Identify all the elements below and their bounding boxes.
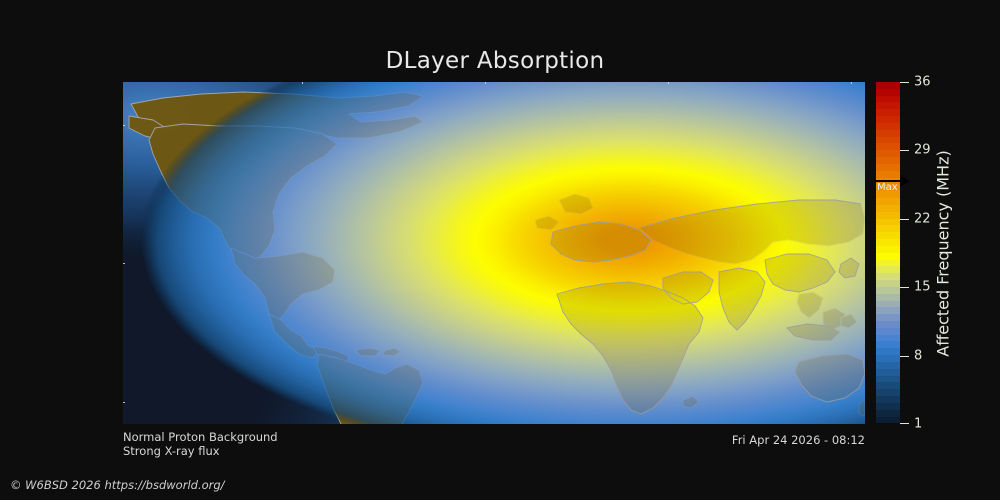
colorbar-segment — [876, 341, 900, 348]
colorbar-segment — [876, 287, 900, 294]
colorbar-segment — [876, 417, 900, 424]
colorbar-tick — [900, 356, 909, 357]
colorbar-segment — [876, 143, 900, 150]
colorbar-segment — [876, 82, 900, 89]
colorbar-title-text: Affected Frequency (MHz) — [934, 150, 953, 356]
colorbar-tick-label: 29 — [914, 143, 931, 158]
colorbar[interactable] — [876, 82, 900, 424]
colorbar-segment — [876, 403, 900, 410]
page-title: DLayer Absorption — [0, 48, 990, 74]
colorbar-segment — [876, 205, 900, 212]
colorbar-tick-label: 8 — [914, 348, 922, 363]
colorbar-segment — [876, 239, 900, 246]
colorbar-segment — [876, 157, 900, 164]
colorbar-segment — [876, 198, 900, 205]
colorbar-segment — [876, 376, 900, 383]
colorbar-tick — [900, 423, 909, 424]
colorbar-segment — [876, 102, 900, 109]
colorbar-segment — [876, 369, 900, 376]
colorbar-segment — [876, 219, 900, 226]
colorbar-tick — [900, 287, 909, 288]
colorbar-segment — [876, 321, 900, 328]
colorbar-segment — [876, 109, 900, 116]
colorbar-tick-label: 22 — [914, 211, 931, 226]
colorbar-segment — [876, 355, 900, 362]
colorbar-segment — [876, 362, 900, 369]
colorbar-segment — [876, 137, 900, 144]
copyright-footer: © W6BSD 2026 https://bsdworld.org/ — [10, 478, 225, 492]
colorbar-segment — [876, 301, 900, 308]
colorbar-tick — [900, 219, 909, 220]
colorbar-segment — [876, 382, 900, 389]
colorbar-segment — [876, 396, 900, 403]
colorbar-title: Affected Frequency (MHz) — [931, 82, 955, 424]
colorbar-segment — [876, 164, 900, 171]
plot-root: DLayer Absorption — [0, 0, 1000, 500]
colorbar-segment — [876, 89, 900, 96]
colorbar-segment — [876, 294, 900, 301]
colorbar-segment — [876, 266, 900, 273]
timestamp: Fri Apr 24 2026 - 08:12 — [460, 433, 865, 447]
colorbar-segment — [876, 314, 900, 321]
colorbar-segment — [876, 328, 900, 335]
colorbar-segment — [876, 184, 900, 191]
colorbar-segment — [876, 232, 900, 239]
world-map[interactable] — [123, 82, 865, 424]
colorbar-segment — [876, 130, 900, 137]
colorbar-segment — [876, 150, 900, 157]
map-canvas — [123, 82, 865, 424]
colorbar-segment — [876, 116, 900, 123]
colorbar-segment — [876, 225, 900, 232]
colorbar-segment — [876, 348, 900, 355]
caption-proton-background: Normal Proton Background — [123, 430, 278, 444]
colorbar-segment — [876, 273, 900, 280]
colorbar-segment — [876, 253, 900, 260]
colorbar-tick-label: 36 — [914, 75, 931, 90]
colorbar-segment — [876, 171, 900, 178]
status-captions: Normal Proton Background Strong X-ray fl… — [123, 430, 278, 458]
colorbar-segment — [876, 307, 900, 314]
colorbar-segment — [876, 191, 900, 198]
colorbar-segment — [876, 389, 900, 396]
colorbar-segment — [876, 246, 900, 253]
colorbar-segment — [876, 335, 900, 342]
colorbar-segment — [876, 178, 900, 185]
colorbar-tick — [900, 150, 909, 151]
colorbar-segment — [876, 96, 900, 103]
colorbar-tick-label: 15 — [914, 280, 931, 295]
colorbar-tick-label: 1 — [914, 417, 922, 432]
colorbar-segment — [876, 260, 900, 267]
colorbar-segment — [876, 123, 900, 130]
colorbar-segment — [876, 212, 900, 219]
colorbar-segment — [876, 410, 900, 417]
colorbar-segment — [876, 280, 900, 287]
absorption-overlay — [123, 82, 865, 424]
caption-xray-flux: Strong X-ray flux — [123, 444, 278, 458]
colorbar-tick — [900, 82, 909, 83]
